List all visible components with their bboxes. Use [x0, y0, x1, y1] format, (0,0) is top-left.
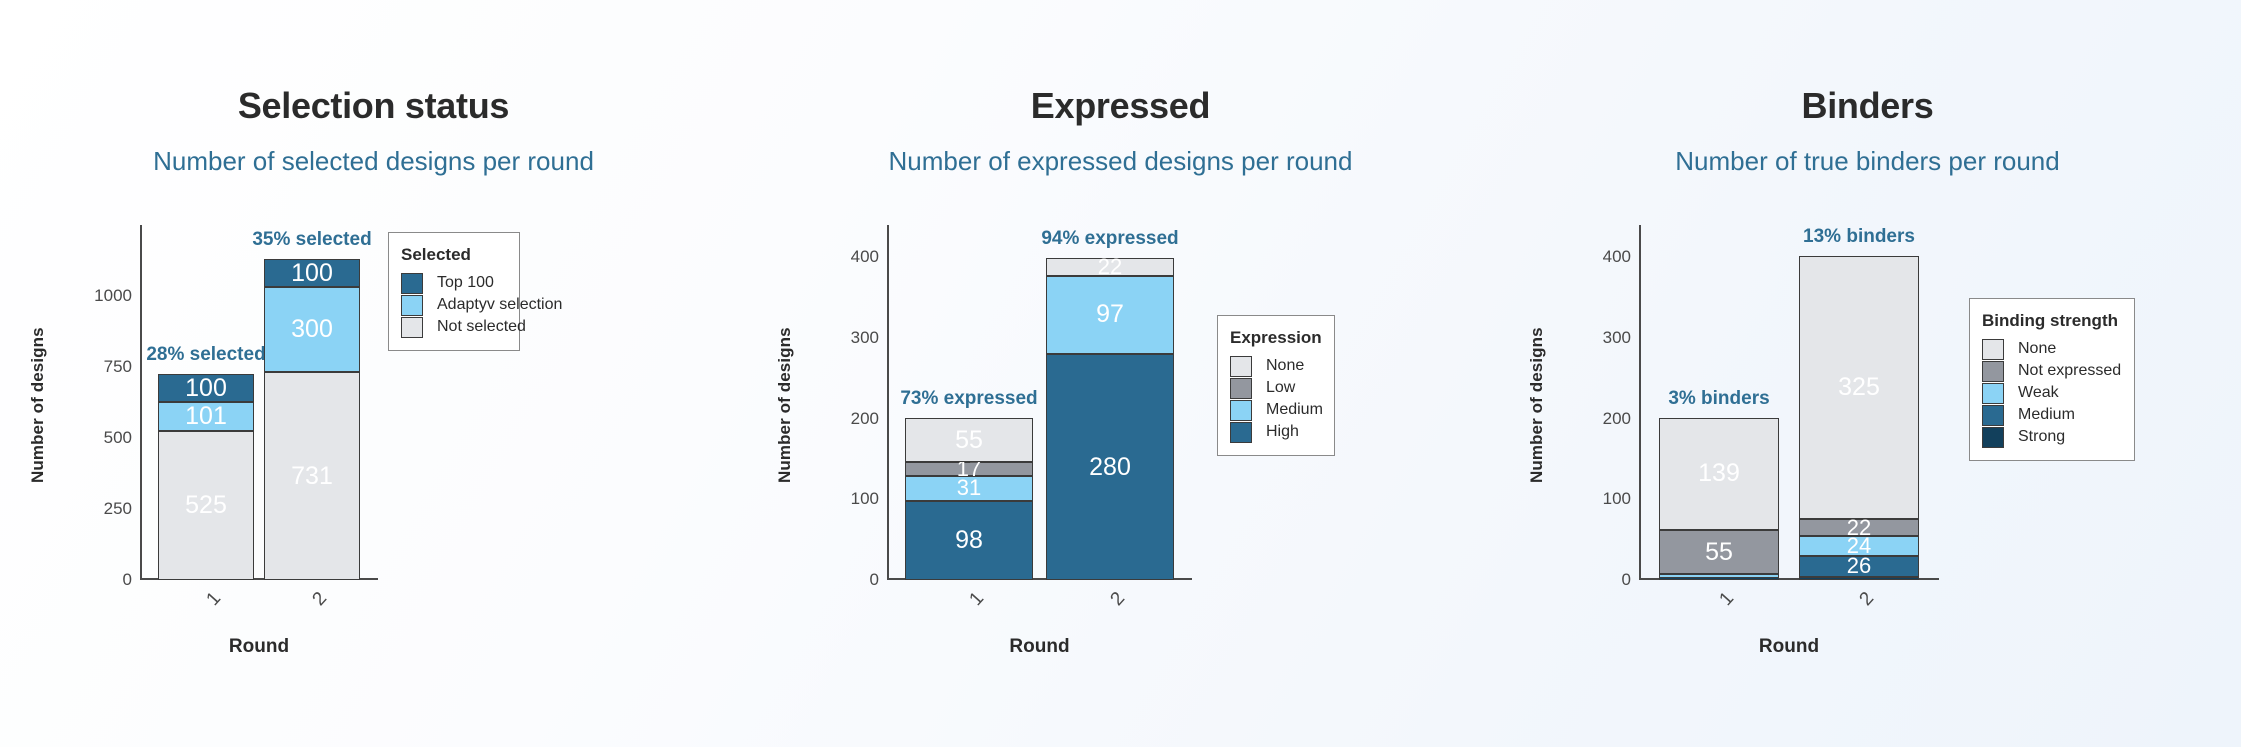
y-tick-label: 250	[104, 499, 132, 519]
bar-segment[interactable]: 22	[1799, 519, 1919, 537]
legend-item-label: Top 100	[437, 274, 494, 292]
bar-column[interactable]: 426242232513% binders2	[1799, 225, 1919, 580]
legend-item-label: Strong	[2018, 428, 2065, 446]
percent-annotation: 35% selected	[252, 229, 371, 251]
bar-segment[interactable]: 98	[905, 501, 1033, 580]
legend-item-label: Adaptyv selection	[437, 296, 562, 314]
legend-item[interactable]: None	[1982, 338, 2120, 360]
bar-segment[interactable]: 24	[1799, 536, 1919, 555]
x-tick-label: 1	[1715, 588, 1738, 611]
y-tick-label: 300	[1603, 328, 1631, 348]
legend-swatch-icon	[401, 295, 423, 316]
bar-segment[interactable]: 31	[905, 476, 1033, 501]
percent-annotation: 73% expressed	[900, 388, 1037, 410]
legend-item[interactable]: Weak	[1982, 382, 2120, 404]
bar-segment-value: 24	[1847, 535, 1871, 557]
y-tick-label: 300	[851, 328, 879, 348]
legend-title: Selected	[401, 245, 505, 265]
bar-segment-value: 55	[955, 428, 983, 453]
legend-item[interactable]: Not selected	[401, 316, 505, 338]
bar-segment[interactable]: 22	[1046, 258, 1174, 276]
legend-item[interactable]: Adaptyv selection	[401, 294, 505, 316]
bar-segment[interactable]: 55	[905, 418, 1033, 462]
chart-legend: Binding strengthNoneNot expressedWeakMed…	[1969, 298, 2135, 461]
legend-item[interactable]: None	[1230, 355, 1320, 377]
bar-segment-value: 325	[1838, 375, 1880, 400]
panel-binders: Binders Number of true binders per round…	[1494, 0, 2241, 747]
x-tick-label: 2	[1106, 588, 1129, 611]
plot-area: 02505007501000Number of designs525101100…	[140, 225, 378, 580]
bar-column[interactable]: 280972294% expressed2	[1046, 225, 1174, 580]
page-subtitle: Number of expressed designs per round	[747, 124, 1494, 174]
legend-swatch-icon	[1982, 361, 2004, 382]
panel-selection-status: Selection status Number of selected desi…	[0, 0, 747, 747]
y-tick-label: 0	[123, 570, 132, 590]
bar-segment-value: 280	[1089, 455, 1131, 480]
legend-title: Expression	[1230, 328, 1320, 348]
percent-annotation: 94% expressed	[1041, 228, 1178, 250]
y-tick-label: 750	[104, 357, 132, 377]
y-tick-label: 500	[104, 428, 132, 448]
legend-swatch-icon	[1230, 378, 1252, 399]
y-axis-line	[887, 225, 889, 580]
y-tick-label: 400	[1603, 247, 1631, 267]
bar-segment[interactable]: 4	[1659, 574, 1779, 577]
y-tick-label: 400	[851, 247, 879, 267]
plot-area: 0100200300400Number of designs214551393%…	[1639, 225, 1939, 580]
legend-item[interactable]: Medium	[1982, 404, 2120, 426]
legend-item-label: None	[2018, 340, 2056, 358]
bar-segment[interactable]: 4	[1799, 577, 1919, 580]
bar-segment[interactable]: 325	[1799, 256, 1919, 518]
y-axis-label: Number of designs	[1527, 327, 1547, 483]
bar-segment-value: 31	[957, 477, 981, 499]
bar-segment[interactable]: 97	[1046, 276, 1174, 354]
y-axis-label: Number of designs	[775, 327, 795, 483]
bar-segment-value: 731	[291, 464, 333, 489]
bar-column[interactable]: 9831175573% expressed1	[905, 225, 1033, 580]
bar-segment[interactable]: 101	[158, 402, 254, 431]
y-axis-ticks: 02505007501000	[78, 225, 140, 580]
legend-swatch-icon	[1230, 400, 1252, 421]
y-tick-label: 200	[1603, 409, 1631, 429]
legend-item[interactable]: Medium	[1230, 399, 1320, 421]
bar-column[interactable]: 214551393% binders1	[1659, 225, 1779, 580]
y-tick-label: 100	[851, 489, 879, 509]
bar-segment[interactable]: 525	[158, 431, 254, 580]
x-tick-label: 2	[308, 588, 331, 611]
panel-expressed: Expressed Number of expressed designs pe…	[747, 0, 1494, 747]
dashboard: Selection status Number of selected desi…	[0, 0, 2241, 747]
legend-swatch-icon	[1230, 422, 1252, 443]
bar-segment-value: 55	[1705, 540, 1733, 565]
legend-item[interactable]: Not expressed	[1982, 360, 2120, 382]
bar-segment[interactable]: 280	[1046, 354, 1174, 580]
bar-segment-value: 525	[185, 493, 227, 518]
legend-item-label: Low	[1266, 379, 1295, 397]
legend-item-label: Medium	[2018, 406, 2075, 424]
legend-item[interactable]: Strong	[1982, 426, 2120, 448]
y-axis-ticks: 0100200300400	[825, 225, 887, 580]
bar-segment-value: 300	[291, 317, 333, 342]
legend-item[interactable]: Low	[1230, 377, 1320, 399]
page-title: Selection status	[0, 88, 747, 124]
legend-swatch-icon	[1982, 405, 2004, 426]
y-tick-label: 100	[1603, 489, 1631, 509]
bar-segment[interactable]: 139	[1659, 418, 1779, 530]
bar-column[interactable]: 52510110028% selected1	[158, 225, 254, 580]
bar-segment[interactable]: 26	[1799, 556, 1919, 577]
legend-item-label: Medium	[1266, 401, 1323, 419]
bar-segment-value: 22	[1098, 256, 1122, 278]
page-subtitle: Number of true binders per round	[1494, 124, 2241, 174]
plot-area: 0100200300400Number of designs9831175573…	[887, 225, 1192, 580]
x-axis-label: Round	[1639, 636, 1939, 658]
y-tick-label: 200	[851, 409, 879, 429]
legend-swatch-icon	[401, 317, 423, 338]
legend-swatch-icon	[1982, 427, 2004, 448]
y-axis-ticks: 0100200300400	[1577, 225, 1639, 580]
bar-segment[interactable]: 55	[1659, 530, 1779, 574]
y-axis-line	[1639, 225, 1641, 580]
page-title: Binders	[1494, 88, 2241, 124]
page-subtitle: Number of selected designs per round	[0, 124, 747, 174]
legend-swatch-icon	[1982, 339, 2004, 360]
y-tick-label: 1000	[94, 286, 132, 306]
legend-swatch-icon	[1230, 356, 1252, 377]
x-tick-label: 1	[202, 588, 225, 611]
page-title: Expressed	[747, 88, 1494, 124]
legend-item-label: High	[1266, 423, 1299, 441]
panel-headings: Selection status Number of selected desi…	[0, 88, 747, 174]
bar-segment[interactable]: 17	[905, 462, 1033, 476]
bar-segment-value: 101	[185, 404, 227, 429]
bar-segment[interactable]: 300	[264, 287, 360, 372]
legend-item-label: Weak	[2018, 384, 2059, 402]
y-tick-label: 0	[870, 570, 879, 590]
y-tick-label: 0	[1622, 570, 1631, 590]
bar-segment-value: 139	[1698, 461, 1740, 486]
panel-headings: Binders Number of true binders per round	[1494, 88, 2241, 174]
y-axis-line	[140, 225, 142, 580]
x-tick-label: 2	[1855, 588, 1878, 611]
bar-segment[interactable]: 731	[264, 372, 360, 580]
panel-headings: Expressed Number of expressed designs pe…	[747, 88, 1494, 174]
legend-item[interactable]: High	[1230, 421, 1320, 443]
bar-segment[interactable]: 100	[264, 259, 360, 287]
y-axis-label: Number of designs	[28, 327, 48, 483]
chart-legend: SelectedTop 100Adaptyv selectionNot sele…	[388, 232, 520, 351]
legend-swatch-icon	[1982, 383, 2004, 404]
x-tick-label: 1	[965, 588, 988, 611]
percent-annotation: 28% selected	[146, 344, 265, 366]
bar-segment-value: 100	[291, 261, 333, 286]
legend-item-label: Not expressed	[2018, 362, 2121, 380]
x-axis-label: Round	[887, 636, 1192, 658]
legend-item-label: None	[1266, 357, 1304, 375]
bar-segment-value: 22	[1847, 517, 1871, 539]
percent-annotation: 3% binders	[1668, 388, 1769, 410]
chart-legend: ExpressionNoneLowMediumHigh	[1217, 315, 1335, 456]
x-axis-label: Round	[140, 636, 378, 658]
bar-segment-value: 98	[955, 528, 983, 553]
bar-segment-value: 26	[1847, 555, 1871, 577]
bar-segment-value: 100	[185, 376, 227, 401]
legend-title: Binding strength	[1982, 311, 2120, 331]
legend-item-label: Not selected	[437, 318, 526, 336]
bar-column[interactable]: 73130010035% selected2	[264, 225, 360, 580]
legend-item[interactable]: Top 100	[401, 272, 505, 294]
percent-annotation: 13% binders	[1803, 226, 1915, 248]
bar-segment-value: 97	[1096, 302, 1124, 327]
legend-swatch-icon	[401, 273, 423, 294]
bar-segment[interactable]: 100	[158, 374, 254, 402]
